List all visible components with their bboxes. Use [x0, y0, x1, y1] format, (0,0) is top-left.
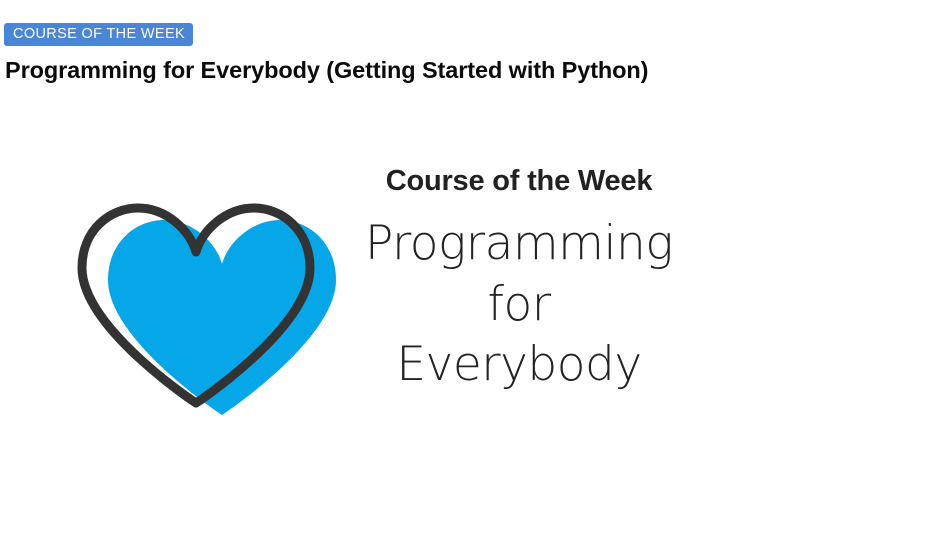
page-title: Programming for Everybody (Getting Start… [5, 56, 648, 85]
promo-course-name-line-1: Programming [358, 214, 680, 274]
promo-course-name: Programming for Everybody [358, 214, 680, 394]
status-badge: COURSE OF THE WEEK [4, 23, 193, 46]
status-badge-label: COURSE OF THE WEEK [13, 27, 185, 42]
promo-kicker: Course of the Week [358, 165, 680, 198]
promo-course-name-line-3: Everybody [358, 335, 680, 395]
double-heart-icon [46, 168, 346, 418]
promo-text-block: Course of the Week Programming for Every… [358, 165, 680, 395]
promo-course-name-line-2: for [358, 275, 680, 335]
course-promo-image: Course of the Week Programming for Every… [0, 140, 700, 430]
